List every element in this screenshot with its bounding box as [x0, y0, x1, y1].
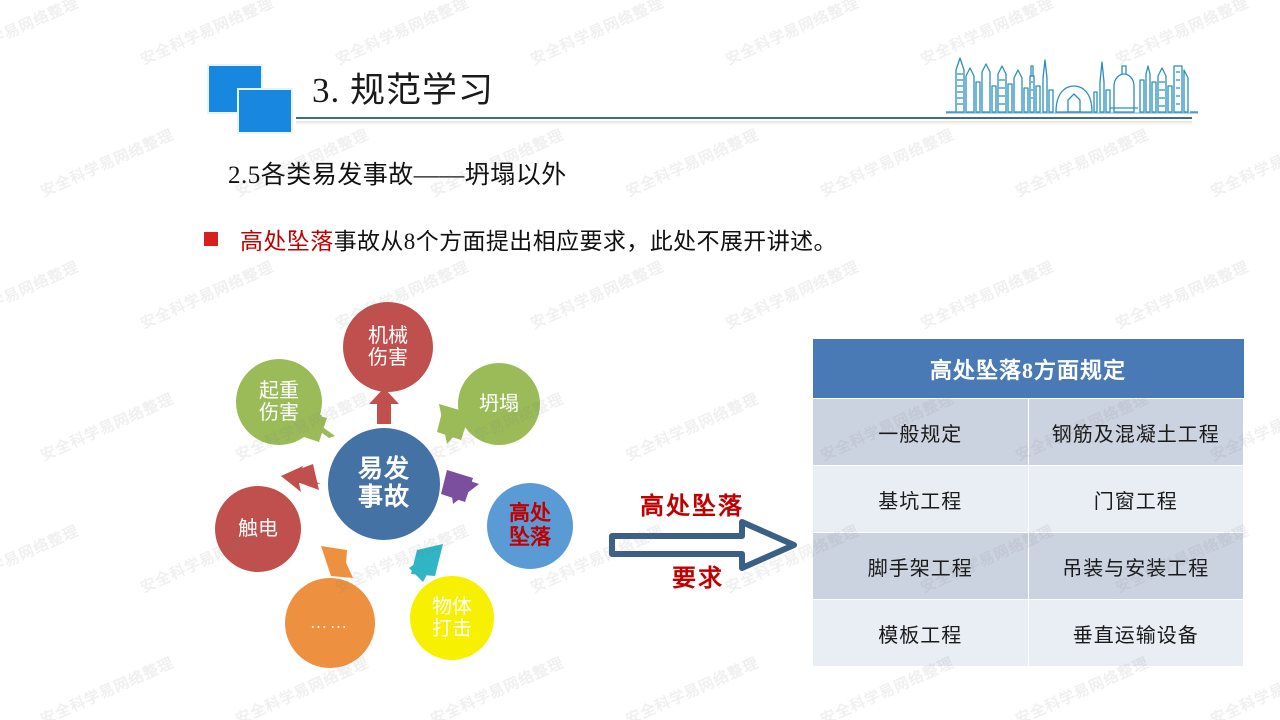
watermark-text: 安全科学易网络整理: [1207, 124, 1280, 202]
watermark-text: 安全科学易网络整理: [917, 256, 1057, 334]
watermark-text: 安全科学易网络整理: [37, 652, 177, 720]
watermark-text: 安全科学易网络整理: [1112, 256, 1252, 334]
table-cell-right: 垂直运输设备: [1028, 600, 1244, 667]
logo-square-front: [237, 88, 293, 134]
node-center-frequent-accidents[interactable]: 易发事故: [328, 428, 440, 540]
watermark-text: 安全科学易网络整理: [722, 0, 862, 69]
arrow-to-mechanical: [369, 388, 399, 424]
watermark-text: 安全科学易网络整理: [37, 124, 177, 202]
arrow-to-collapse: [437, 404, 473, 444]
watermark-text: 安全科学易网络整理: [37, 388, 177, 466]
table-row[interactable]: 脚手架工程 吊装与安装工程: [813, 533, 1244, 600]
table-header-row: 高处坠落8方面规定: [813, 339, 1244, 399]
table-cell-left: 一般规定: [813, 399, 1029, 466]
table-header-cell: 高处坠落8方面规定: [813, 339, 1244, 399]
city-skyline-icon: [946, 52, 1198, 118]
table-cell-left: 脚手架工程: [813, 533, 1029, 600]
table-cell-right: 钢筋及混凝土工程: [1028, 399, 1244, 466]
arrow-to-lifting: [295, 410, 335, 442]
watermark-text: 安全科学易网络整理: [527, 0, 667, 69]
watermark-text: 安全科学易网络整理: [0, 0, 82, 69]
header-divider-shadow: [296, 121, 1192, 125]
bullet-highlight: 高处坠落: [240, 229, 334, 254]
table-row[interactable]: 模板工程 垂直运输设备: [813, 600, 1244, 667]
watermark-text: 安全科学易网络整理: [622, 652, 762, 720]
watermark-text: 安全科学易网络整理: [817, 124, 957, 202]
arrow-to-fall: [441, 470, 479, 504]
table-row[interactable]: 基坑工程 门窗工程: [813, 466, 1244, 533]
table-cell-right: 门窗工程: [1028, 466, 1244, 533]
watermark-text: 安全科学易网络整理: [722, 256, 862, 334]
section-subtitle: 2.5各类易发事故——坍塌以外: [228, 155, 567, 191]
watermark-text: 安全科学易网络整理: [137, 0, 277, 69]
node-center-label: 易发事故: [358, 456, 410, 512]
table-row[interactable]: 一般规定 钢筋及混凝土工程: [813, 399, 1244, 466]
table-cell-left: 模板工程: [813, 600, 1029, 667]
bullet-marker-square: [204, 232, 218, 246]
bullet-text: 高处坠落事故从8个方面提出相应要求，此处不展开讲述。: [240, 222, 837, 256]
watermark-text: 安全科学易网络整理: [0, 256, 82, 334]
arrow-to-etc: [321, 546, 353, 578]
bullet-line: 高处坠落事故从8个方面提出相应要求，此处不展开讲述。: [204, 222, 837, 256]
fall-regulations-table: 高处坠落8方面规定 一般规定 钢筋及混凝土工程 基坑工程 门窗工程 脚手架工程 …: [812, 339, 1244, 667]
watermark-text: 安全科学易网络整理: [0, 520, 82, 598]
watermark-text: 安全科学易网络整理: [622, 388, 762, 466]
overlapping-squares-logo: [207, 64, 301, 134]
slide-canvas: 3. 规范学习: [0, 0, 1280, 720]
arrow-to-object: [409, 544, 443, 582]
page-title: 3. 规范学习: [312, 62, 494, 113]
bullet-rest: 事故从8个方面提出相应要求，此处不展开讲述。: [334, 229, 837, 254]
watermark-text: 安全科学易网络整理: [622, 124, 762, 202]
table-cell-left: 基坑工程: [813, 466, 1029, 533]
watermark-text: 安全科学易网络整理: [332, 0, 472, 69]
watermark-text: 安全科学易网络整理: [1012, 124, 1152, 202]
arrow-to-shock: [281, 464, 321, 492]
table-cell-right: 吊装与安装工程: [1028, 533, 1244, 600]
accident-types-diagram: 机械伤害 起重伤害 坍塌 触电 高处坠落 …… 物体打击 易发事故: [195, 288, 605, 688]
transition-label-top: 高处坠落: [640, 486, 744, 521]
right-block-arrow-icon: [608, 518, 798, 572]
